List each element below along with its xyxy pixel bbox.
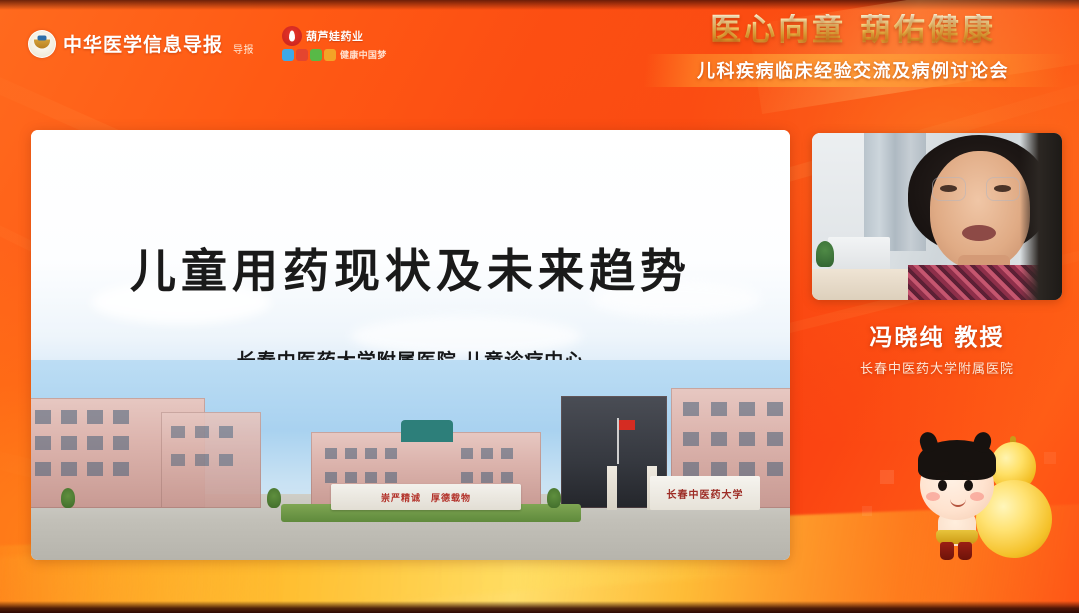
sponsor-logo[interactable]: 葫芦娃药业 健康中国梦 <box>282 26 387 61</box>
logo-row: 中华医学信息导报 导报 葫芦娃药业 健康中国梦 <box>28 26 387 61</box>
speaker-info: 冯晓纯 教授 长春中医药大学附属医院 <box>812 318 1062 377</box>
sponsor-logo-tagline-row: 健康中国梦 <box>282 48 387 61</box>
decorative-pixel <box>880 470 894 484</box>
broadcast-screen: 中华医学信息导报 导报 葫芦娃药业 健康中国梦 医心向童 葫佑健康 <box>0 0 1079 613</box>
event-banner: 医心向童 葫佑健康 儿科疾病临床经验交流及病例讨论会 <box>653 14 1053 87</box>
speaker-organization: 长春中医药大学附属医院 <box>812 358 1062 377</box>
video-person-face <box>930 151 1030 269</box>
video-plant <box>816 241 834 267</box>
chip-green-icon <box>310 49 322 61</box>
mascot-cheek <box>970 492 984 501</box>
mascot-eye <box>938 480 947 491</box>
publisher-logo[interactable]: 中华医学信息导报 导报 <box>28 30 254 58</box>
chip-blue-icon <box>282 49 294 61</box>
letterbox-bottom <box>0 601 1079 613</box>
campus-tree <box>267 488 281 508</box>
chip-orange-icon <box>324 49 336 61</box>
publisher-logo-suffix: 导报 <box>233 41 254 58</box>
mascot-cheek <box>926 492 940 501</box>
sponsor-logo-main: 葫芦娃药业 <box>282 26 387 46</box>
mascot-boot <box>958 542 972 560</box>
event-subtitle: 儿科疾病临床经验交流及病例讨论会 <box>653 57 1053 83</box>
monument-text-right: 厚德载物 <box>431 491 471 504</box>
video-person-eye <box>994 185 1011 192</box>
flame-drop-icon <box>282 26 302 46</box>
campus-gate-sign: 长春中医药大学 <box>650 476 760 510</box>
presentation-slide[interactable]: 儿童用药现状及未来趋势 长春中医药大学附属医院 儿童诊疗中心 长春中医药大学附属… <box>31 130 790 560</box>
event-title: 医心向童 葫佑健康 <box>653 14 1053 47</box>
publisher-logo-text: 中华医学信息导报 <box>63 30 223 57</box>
mascot-boot <box>940 542 954 560</box>
campus-tree <box>61 488 75 508</box>
monument-text-left: 崇严精诚 <box>381 491 421 504</box>
speaker-name: 冯晓纯 教授 <box>812 318 1062 352</box>
sponsor-logo-tagline: 健康中国梦 <box>340 48 387 61</box>
campus-building <box>161 412 261 508</box>
event-subtitle-wrap: 儿科疾病临床经验交流及病例讨论会 <box>653 54 1053 87</box>
mascot-eye <box>964 480 973 491</box>
campus-gate-pillar <box>607 466 617 510</box>
campus-tree <box>547 488 561 508</box>
campus-photo: 崇严精诚 厚德载物 长春中医药大学 <box>31 360 790 560</box>
letterbox-top <box>0 0 1079 10</box>
slide-title: 儿童用药现状及未来趋势 <box>31 235 790 301</box>
sponsor-logo-text: 葫芦娃药业 <box>306 28 364 44</box>
gate-sign-text: 长春中医药大学 <box>667 486 744 501</box>
video-cabinet <box>828 237 890 271</box>
campus-flagpole <box>617 418 619 464</box>
video-shadow-right <box>1020 133 1062 300</box>
sponsor-color-chips <box>282 49 336 61</box>
speaker-video-feed[interactable] <box>812 133 1062 300</box>
campus-monument: 崇严精诚 厚德载物 <box>331 484 521 510</box>
medical-journal-emblem-icon <box>28 30 56 58</box>
decorative-pixel <box>862 506 872 516</box>
gourd-boy-mascot-icon <box>912 432 1062 572</box>
video-person-eye <box>940 185 957 192</box>
video-person-mouth <box>962 225 996 241</box>
chip-red-icon <box>296 49 308 61</box>
